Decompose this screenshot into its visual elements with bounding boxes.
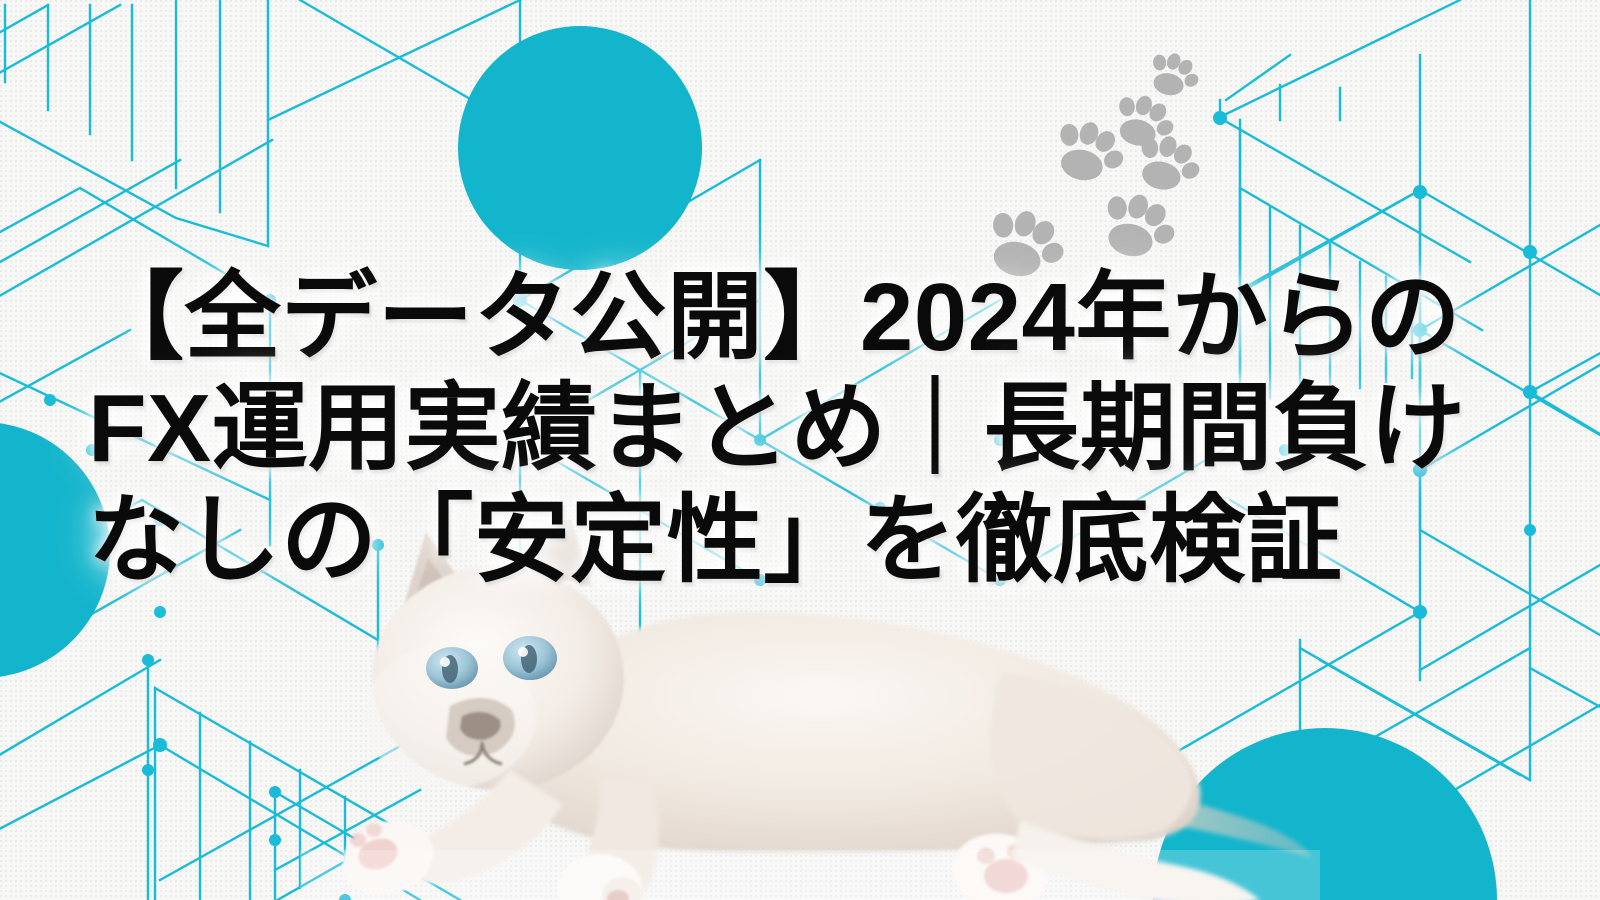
eyecatch-banner: 【全データ公開】2024年からの FX運用実績まとめ｜長期間負け なしの「安定性… — [0, 0, 1600, 900]
cat-head — [364, 566, 624, 790]
title-line-3: なしの「安定性」を徹底検証 — [88, 485, 1508, 596]
title-line-1: 【全データ公開】2024年からの — [88, 262, 1508, 373]
paw-icon-group — [974, 46, 1211, 293]
title-line-2: FX運用実績まとめ｜長期間負け — [88, 373, 1508, 484]
page-title: 【全データ公開】2024年からの FX運用実績まとめ｜長期間負け なしの「安定性… — [88, 262, 1508, 596]
